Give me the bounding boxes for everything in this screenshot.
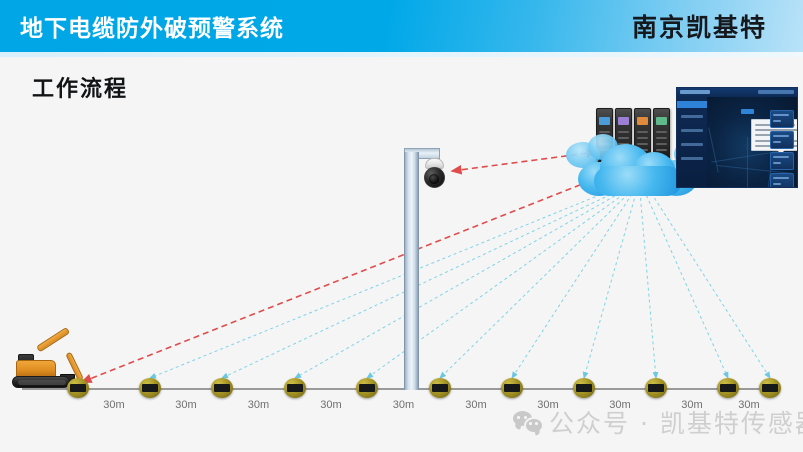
- distance-label: 30m: [306, 399, 356, 411]
- sensor-body: [287, 384, 303, 392]
- sensor-body: [720, 384, 736, 392]
- distance-label: 30m: [161, 399, 211, 411]
- dashboard-sidebar: [677, 97, 708, 188]
- sensor-body: [504, 384, 520, 392]
- vibration-sensor-node: [759, 378, 781, 398]
- slide-header: 地下电缆防外破预警系统 南京凯基特: [0, 0, 803, 52]
- sensor-body: [70, 384, 86, 392]
- vibration-sensor-node: [429, 378, 451, 398]
- wechat-icon: [513, 411, 541, 433]
- dashboard-stat-card[interactable]: [770, 173, 794, 188]
- distance-label: 30m: [89, 399, 139, 411]
- distance-label: 30m: [234, 399, 284, 411]
- sensor-body: [214, 384, 230, 392]
- sidebar-item[interactable]: [681, 143, 703, 146]
- dashboard-stat-card[interactable]: [770, 152, 794, 170]
- vibration-sensor-node: [284, 378, 306, 398]
- dashboard-map[interactable]: [707, 97, 797, 187]
- sensor-body: [648, 384, 664, 392]
- downlink-group: [150, 188, 770, 378]
- excavator-boom: [36, 327, 70, 352]
- sidebar-item[interactable]: [681, 115, 703, 118]
- dashboard-logo: [680, 90, 710, 94]
- sidebar-item[interactable]: [681, 129, 703, 132]
- distance-label: 30m: [451, 399, 501, 411]
- header-title: 地下电缆防外破预警系统: [20, 9, 284, 43]
- dashboard-stat-card[interactable]: [770, 110, 794, 128]
- watermark: 公众号 · 凯基特传感器: [513, 405, 803, 439]
- vibration-sensor-node: [211, 378, 233, 398]
- camera-dome: [424, 167, 445, 188]
- sensor-body: [142, 384, 158, 392]
- vibration-sensor-node: [645, 378, 667, 398]
- sensor-body: [432, 384, 448, 392]
- camera-pole: [404, 152, 419, 390]
- camera-lens: [429, 174, 439, 184]
- dashboard-map-button[interactable]: [741, 109, 754, 114]
- vibration-sensor-node: [356, 378, 378, 398]
- monitoring-dashboard-screenshot[interactable]: [676, 87, 798, 188]
- ptz-dome-camera-icon: [424, 158, 445, 190]
- dashboard-stat-card[interactable]: [770, 131, 794, 149]
- vibration-sensor-node: [573, 378, 595, 398]
- sensor-body: [762, 384, 778, 392]
- page-title: 工作流程: [32, 71, 128, 103]
- sensor-body: [576, 384, 592, 392]
- excavator-track: [12, 376, 70, 388]
- connection-lines: [0, 0, 803, 452]
- header-brand: 南京凯基特: [632, 8, 767, 44]
- header-underline: [0, 52, 803, 57]
- vibration-sensor-node: [67, 378, 89, 398]
- sensor-cloud-alert-link: [82, 177, 600, 382]
- watermark-text: 公众号 · 凯基特传感器: [549, 404, 803, 440]
- sensor-body: [359, 384, 375, 392]
- sidebar-item[interactable]: [681, 157, 703, 160]
- vibration-sensor-node: [139, 378, 161, 398]
- dashboard-topbar-right: [758, 90, 794, 94]
- vibration-sensor-node: [501, 378, 523, 398]
- slide-canvas: 地下电缆防外破预警系统 南京凯基特 工作流程: [0, 0, 803, 452]
- sidebar-item-selected[interactable]: [677, 101, 707, 108]
- vibration-sensor-node: [717, 378, 739, 398]
- distance-label: 30m: [379, 399, 429, 411]
